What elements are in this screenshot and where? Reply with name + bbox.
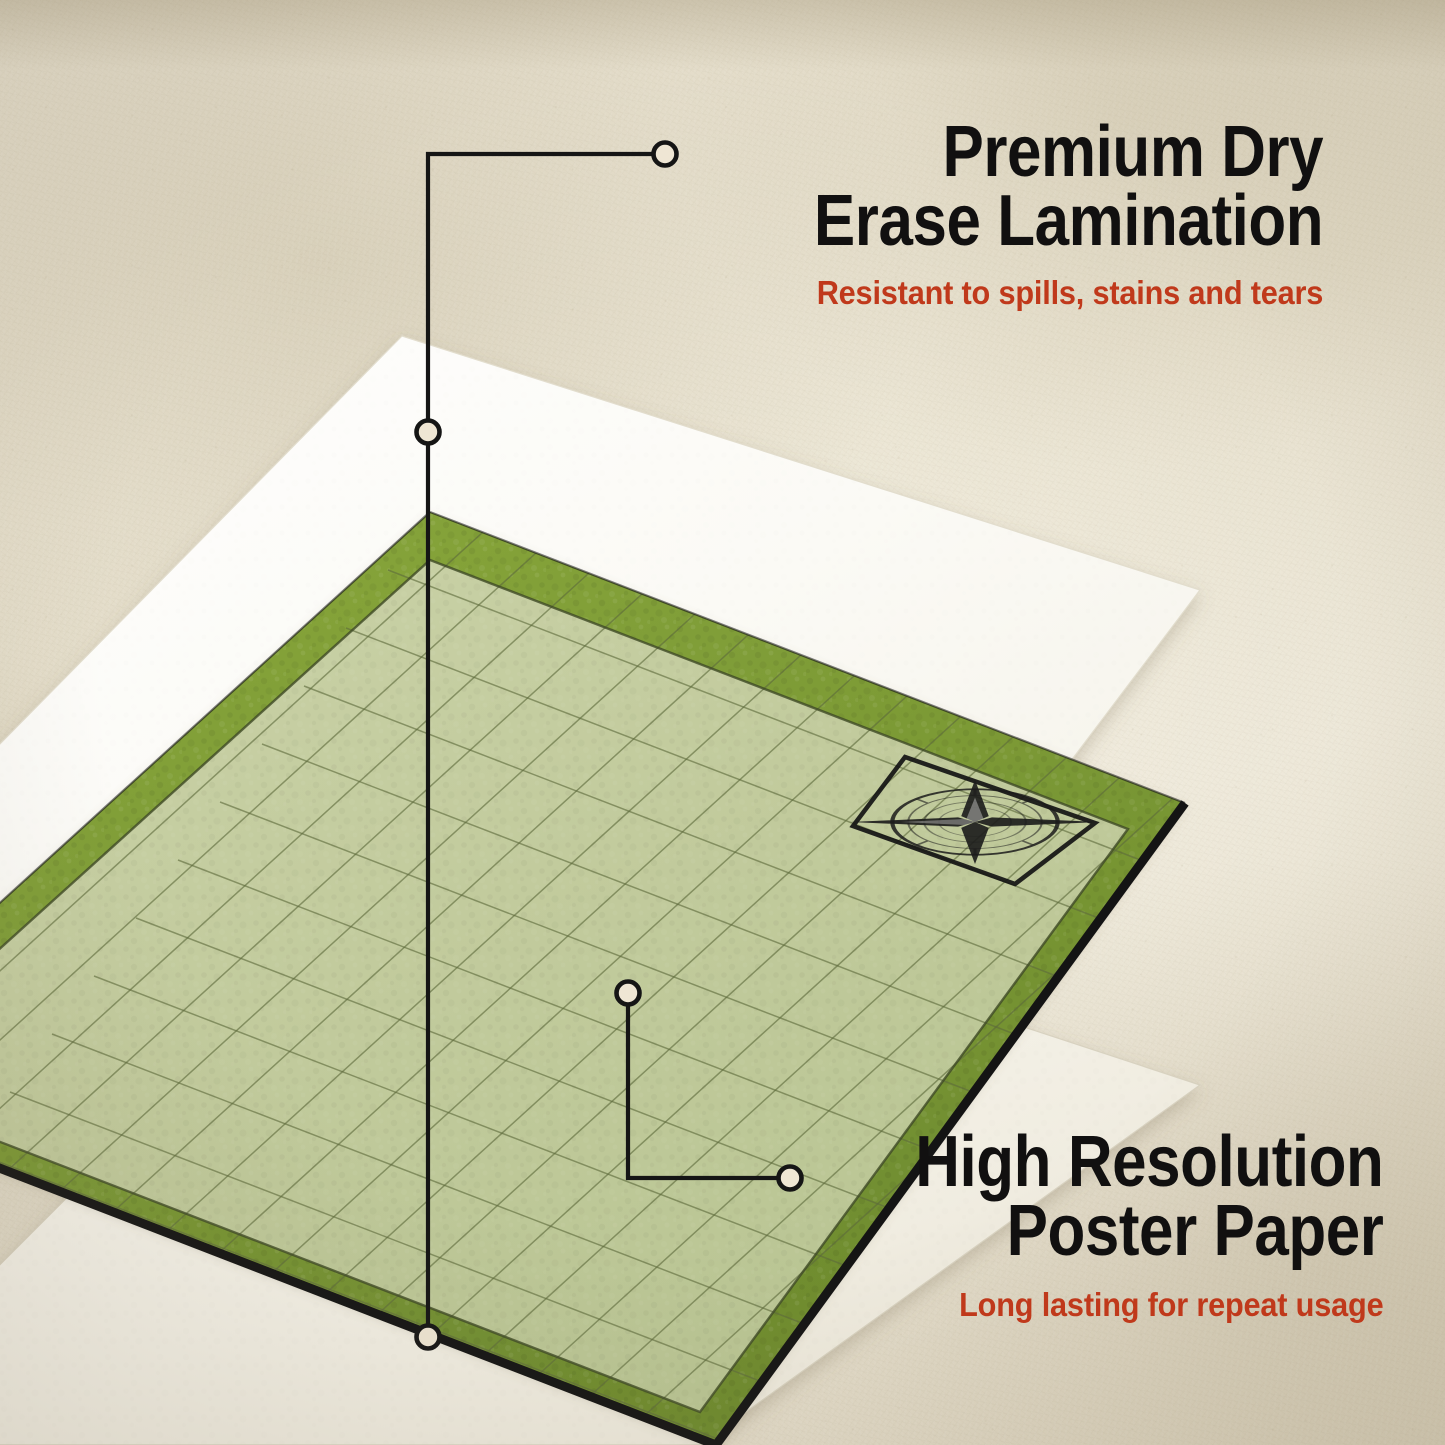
callout-text-lamination: Premium Dry Erase Lamination Resistant t… (731, 118, 1323, 312)
lamination-headline-line2: Erase Lamination (814, 187, 1323, 256)
infographic-canvas: Premium Dry Erase Lamination Resistant t… (0, 0, 1445, 1445)
callout-text-poster-paper: High Resolution Poster Paper Long lastin… (839, 1128, 1383, 1324)
poster-paper-headline-line1: High Resolution (915, 1128, 1383, 1197)
poster-paper-subline: Long lasting for repeat usage (877, 1286, 1383, 1324)
lamination-subline: Resistant to spills, stains and tears (772, 274, 1323, 312)
lamination-headline-line1: Premium Dry (814, 118, 1323, 187)
poster-paper-headline-line2: Poster Paper (915, 1197, 1383, 1266)
